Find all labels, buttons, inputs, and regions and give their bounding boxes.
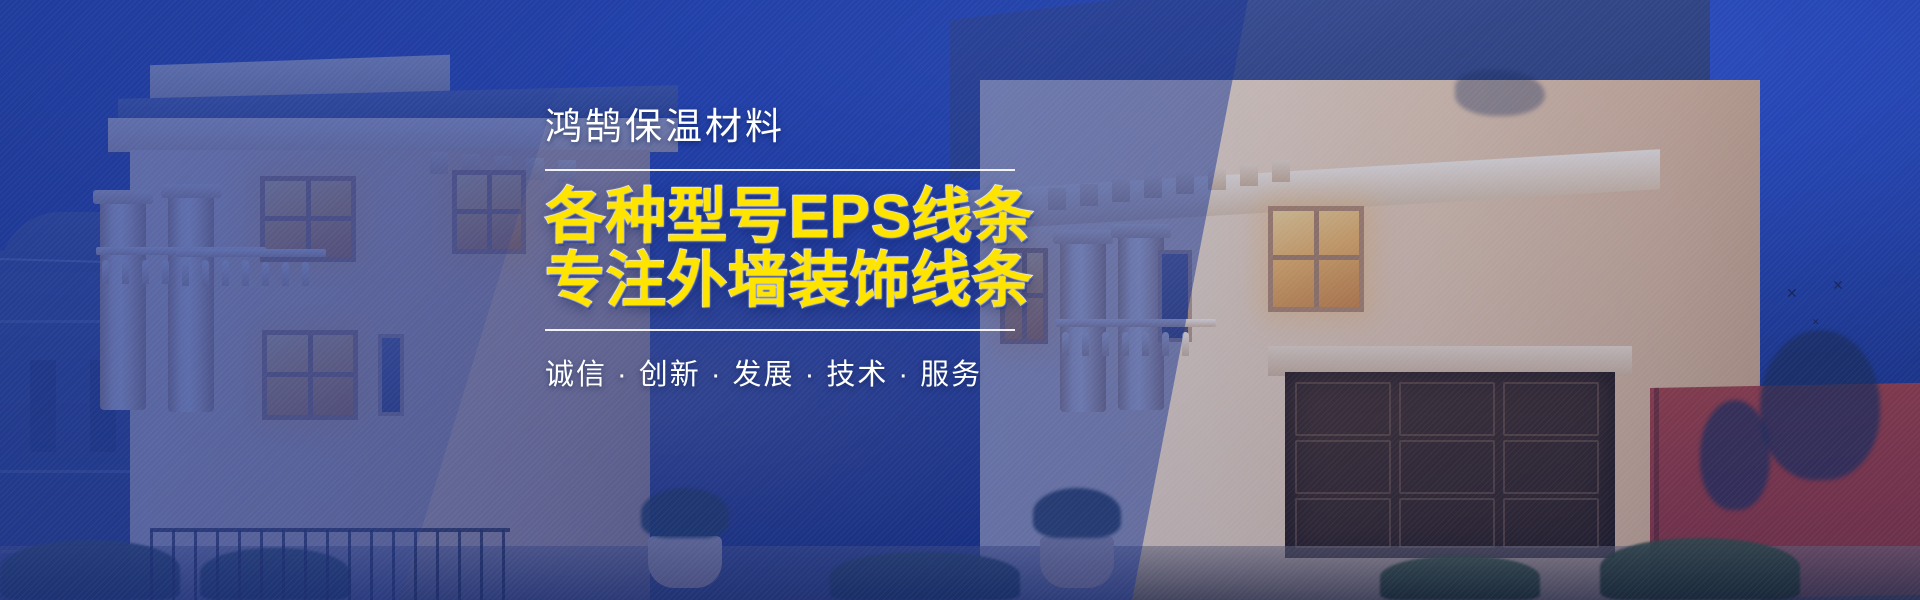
headline-line-2: 专注外墙装饰线条: [545, 249, 1015, 313]
divider-top: [545, 169, 1015, 171]
promo-banner: ✕ ✕ ✕ 鸿鹄保温材料 各种型号EPS线条: [0, 0, 1920, 600]
banner-content: 鸿鹄保温材料 各种型号EPS线条 专注外墙装饰线条 诚信 · 创新 · 发展 ·…: [545, 96, 1015, 393]
tagline: 诚信 · 创新 · 发展 · 技术 · 服务: [545, 351, 1015, 393]
brand-name: 鸿鹄保温材料: [545, 96, 1015, 150]
divider-bottom: [545, 329, 1015, 331]
headline-line-1: 各种型号EPS线条: [545, 185, 1015, 249]
